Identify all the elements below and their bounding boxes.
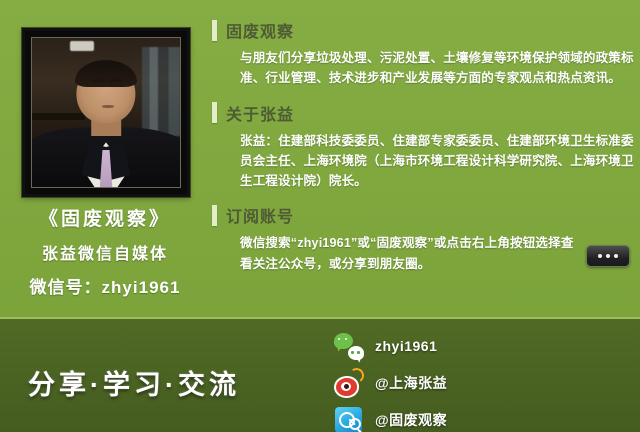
ceiling-light bbox=[70, 41, 94, 51]
section-header: 固废观察 bbox=[212, 18, 640, 42]
section-about-person: 关于张益 张益：住建部科技委委员、住建部专家委委员、住建部环境卫生标准委员会主任… bbox=[212, 101, 640, 192]
section-header: 关于张益 bbox=[212, 101, 640, 125]
section-about-account: 固废观察 与朋友们分享垃圾处理、污泥处置、土壤修复等环境保护领域的政策标准、行业… bbox=[212, 18, 640, 89]
dot bbox=[598, 254, 602, 258]
section-body: 张益：住建部科技委委员、住建部专家委委员、住建部环境卫生标准委员会主任、上海环境… bbox=[240, 131, 640, 192]
figure-brow-left bbox=[92, 79, 104, 82]
figure-eye-right bbox=[111, 83, 121, 87]
figure-mouth bbox=[102, 105, 114, 108]
social-label: @上海张益 bbox=[375, 373, 447, 393]
accent-bar-icon bbox=[212, 102, 217, 123]
tencent-weibo-icon bbox=[334, 405, 364, 432]
right-column: 固废观察 与朋友们分享垃圾处理、污泥处置、土壤修复等环境保护领域的政策标准、行业… bbox=[212, 0, 640, 317]
social-row-weibo[interactable]: @上海张益 bbox=[334, 366, 504, 399]
social-label: @固废观察 bbox=[375, 410, 447, 430]
social-label: zhyi1961 bbox=[375, 338, 437, 354]
promo-card: 《固废观察》 张益微信自媒体 微信号：zhyi1961 固废观察 与朋友们分享垃… bbox=[0, 0, 640, 432]
brand-subtitle: 张益微信自媒体 bbox=[0, 240, 210, 264]
figure-brow-right bbox=[110, 79, 122, 82]
section-title: 固废观察 bbox=[226, 18, 294, 42]
ellipsis-icon[interactable] bbox=[586, 245, 630, 267]
wechat-id-line: 微信号：zhyi1961 bbox=[0, 273, 210, 298]
accent-bar-icon bbox=[212, 20, 217, 41]
wechat-icon bbox=[334, 331, 364, 361]
section-body: 与朋友们分享垃圾处理、污泥处置、土壤修复等环境保护领域的政策标准、行业管理、技术… bbox=[240, 48, 640, 89]
bottom-bar: 分享·学习·交流 zhyi1961 @上海张益 bbox=[0, 317, 640, 432]
portrait-photo bbox=[31, 37, 181, 188]
social-row-tencent-weibo[interactable]: @固废观察 bbox=[334, 403, 504, 432]
dot bbox=[606, 254, 610, 258]
section-subscribe: 订阅账号 微信搜索“zhyi1961”或“固废观察”或点击右上角按钮选择查看关注… bbox=[212, 203, 640, 274]
weibo-icon bbox=[334, 368, 364, 398]
section-header: 订阅账号 bbox=[212, 203, 640, 227]
section-title: 关于张益 bbox=[226, 101, 294, 125]
section-body: 微信搜索“zhyi1961”或“固废观察”或点击右上角按钮选择查看关注公众号，或… bbox=[240, 233, 580, 274]
left-column: 《固废观察》 张益微信自媒体 微信号：zhyi1961 bbox=[0, 0, 210, 317]
dot bbox=[614, 254, 618, 258]
social-list: zhyi1961 @上海张益 @固废观察 bbox=[334, 329, 504, 432]
portrait-frame bbox=[22, 28, 190, 197]
section-title: 订阅账号 bbox=[226, 203, 294, 227]
brand-title: 《固废观察》 bbox=[0, 204, 210, 231]
bookshelf-right bbox=[142, 47, 180, 136]
shelf-edge bbox=[32, 113, 85, 120]
accent-bar-icon bbox=[212, 205, 217, 226]
left-titles: 《固废观察》 张益微信自媒体 微信号：zhyi1961 bbox=[0, 204, 210, 298]
slogan-text: 分享·学习·交流 bbox=[28, 363, 308, 402]
social-row-wechat[interactable]: zhyi1961 bbox=[334, 329, 504, 362]
